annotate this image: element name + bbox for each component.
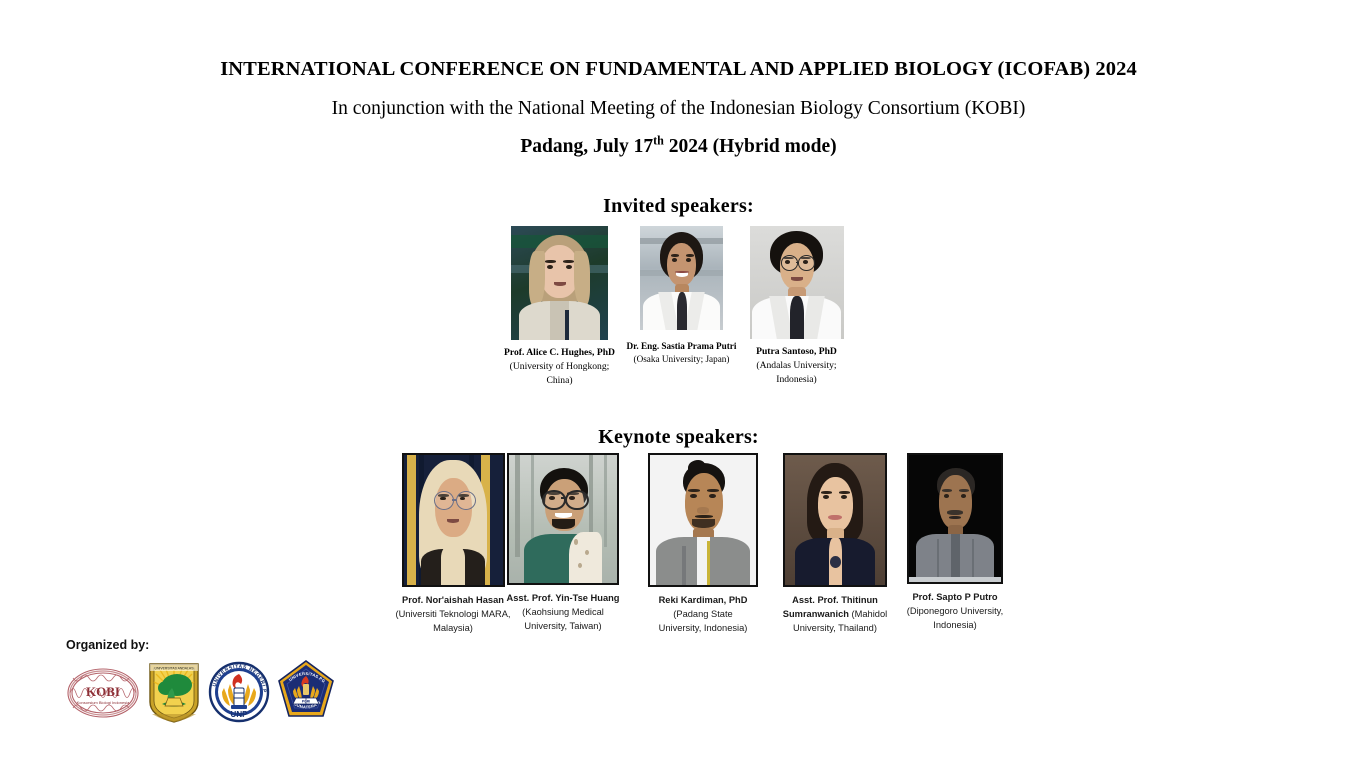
speaker-photo-yin-tse-huang <box>509 455 617 583</box>
speaker-affiliation-line1: (Andalas University; <box>735 359 858 373</box>
invited-speaker-card: Putra Santoso, PhD (Andalas University; … <box>735 226 858 387</box>
svg-text:Konsorsium Biologi Indonesia: Konsorsium Biologi Indonesia <box>77 700 130 705</box>
speaker-caption: Asst. Prof. Yin-Tse Huang (Kaohsiung Med… <box>487 592 639 633</box>
speaker-name: Prof. Sapto P Putro <box>860 591 1050 605</box>
speaker-caption: Prof. Sapto P Putro (Diponegoro Universi… <box>860 591 1050 632</box>
invited-speaker-card: Dr. Eng. Sastia Prama Putri (Osaka Unive… <box>622 226 741 367</box>
svg-text:UNIVERSITAS ANDALAS: UNIVERSITAS ANDALAS <box>155 667 195 671</box>
speaker-name-line2: Sumranwanich <box>783 609 849 619</box>
speaker-affiliation-line2: University, Taiwan) <box>487 620 639 634</box>
speaker-caption: Prof. Alice C. Hughes, PhD (University o… <box>483 346 636 388</box>
date-suffix: 2024 (Hybrid mode) <box>664 136 837 157</box>
speaker-affiliation-line1: (Kaohsiung Medical <box>487 606 639 620</box>
speaker-affiliation-line1: (Osaka University; Japan) <box>622 353 741 366</box>
poster-header: INTERNATIONAL CONFERENCE ON FUNDAMENTAL … <box>0 0 1357 157</box>
speaker-photo-putra-santoso <box>750 226 844 339</box>
organized-by-section: Organized by: KOBI Konsorsium Biologi In… <box>66 638 336 724</box>
invited-speakers-row: Prof. Alice C. Hughes, PhD (University o… <box>0 226 1357 401</box>
speaker-affiliation-line2: China) <box>483 374 636 388</box>
organized-by-label: Organized by: <box>66 638 336 652</box>
universitas-andalas-logo: UNIVERSITAS ANDALAS <box>146 658 202 724</box>
keynote-speakers-heading: Keynote speakers: <box>0 426 1357 449</box>
speaker-name: Asst. Prof. Yin-Tse Huang <box>487 592 639 606</box>
invited-speaker-card: Prof. Alice C. Hughes, PhD (University o… <box>483 226 636 388</box>
speaker-affiliation-line1: (Diponegoro University, <box>860 605 1050 619</box>
date-ordinal-suffix: th <box>653 133 664 147</box>
svg-text:KOBI: KOBI <box>86 684 120 699</box>
svg-text:PGRI: PGRI <box>302 700 310 704</box>
photo-frame <box>907 453 1003 584</box>
speaker-caption: Dr. Eng. Sastia Prama Putri (Osaka Unive… <box>622 340 741 367</box>
speaker-affiliation-line2: Indonesia) <box>735 373 858 387</box>
date-prefix: Padang, July 17 <box>520 136 653 157</box>
speaker-photo-sapto-p-putro <box>909 455 1001 582</box>
speaker-photo-reki-kardiman <box>650 455 756 585</box>
speaker-name: Putra Santoso, PhD <box>735 345 858 359</box>
svg-text:UNP: UNP <box>231 710 249 719</box>
speaker-affiliation-line2: Indonesia) <box>860 619 1050 633</box>
speaker-photo-alice-hughes <box>511 226 608 340</box>
universitas-pgri-sumatera-barat-logo: UNIVERSITAS PGRI SUMATERA BARAT PGRI <box>276 658 336 724</box>
universitas-negeri-padang-logo: UNIVERSITAS NEGERI PADANG UNP <box>208 660 270 724</box>
speaker-affiliation-line1: (University of Hongkong; <box>483 360 636 374</box>
speaker-name: Prof. Alice C. Hughes, PhD <box>483 346 636 360</box>
photo-frame <box>648 453 758 587</box>
kobi-logo: KOBI Konsorsium Biologi Indonesia <box>66 662 140 724</box>
speaker-caption: Putra Santoso, PhD (Andalas University; … <box>735 345 858 387</box>
organizer-logo-row: KOBI Konsorsium Biologi Indonesia UNIVER… <box>66 658 336 724</box>
keynote-speaker-card: Prof. Sapto P Putro (Diponegoro Universi… <box>860 453 1050 632</box>
keynote-speakers-row: Prof. Nor'aishah Hasan (Universiti Tekno… <box>0 453 1357 638</box>
invited-speakers-heading: Invited speakers: <box>0 195 1357 218</box>
conference-subtitle: In conjunction with the National Meeting… <box>0 98 1357 119</box>
photo-frame <box>507 453 619 585</box>
conference-date-location: Padang, July 17th 2024 (Hybrid mode) <box>0 136 1357 157</box>
conference-title: INTERNATIONAL CONFERENCE ON FUNDAMENTAL … <box>0 58 1357 81</box>
speaker-name: Dr. Eng. Sastia Prama Putri <box>622 340 741 353</box>
speaker-photo-sastia-prama-putri <box>640 226 723 330</box>
keynote-speaker-card: Asst. Prof. Yin-Tse Huang (Kaohsiung Med… <box>487 453 639 633</box>
